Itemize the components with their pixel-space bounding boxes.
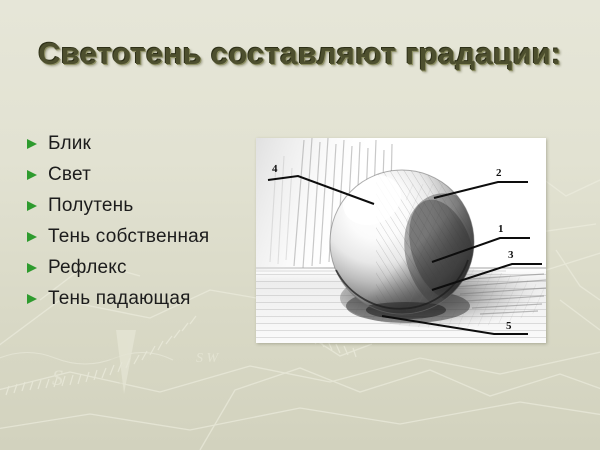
list-item[interactable]: Полутень <box>26 190 256 221</box>
triangle-right-icon <box>26 200 42 212</box>
list-item[interactable]: Блик <box>26 128 256 159</box>
list-item[interactable]: Тень падающая <box>26 283 256 314</box>
callout-number-2: 2 <box>496 167 502 179</box>
sphere-illustration[interactable]: 4 2 1 3 5 <box>256 138 546 343</box>
svg-text:S W: S W <box>196 351 220 366</box>
list-item-label: Полутень <box>42 190 133 221</box>
triangle-right-icon <box>26 231 42 243</box>
list-item-label: Тень собственная <box>42 221 209 252</box>
list-item-label: Тень падающая <box>42 283 191 314</box>
callout-number-3: 3 <box>508 249 514 261</box>
triangle-right-icon <box>26 138 42 150</box>
slide: S S W Светотень составляют градации: Бли… <box>0 0 600 450</box>
svg-text:S: S <box>52 365 63 390</box>
triangle-right-icon <box>26 262 42 274</box>
callout-number-1: 1 <box>498 223 504 235</box>
page-title: Светотень составляют градации: <box>0 36 600 72</box>
list-item[interactable]: Свет <box>26 159 256 190</box>
list-item-label: Рефлекс <box>42 252 127 283</box>
callout-number-4: 4 <box>272 163 278 175</box>
list-item[interactable]: Рефлекс <box>26 252 256 283</box>
list-item-label: Блик <box>42 128 91 159</box>
gradation-list: Блик Свет Полутень Тень собственная Рефл <box>26 128 256 314</box>
triangle-right-icon <box>26 169 42 181</box>
list-item-label: Свет <box>42 159 91 190</box>
callout-number-5: 5 <box>506 320 512 332</box>
list-item[interactable]: Тень собственная <box>26 221 256 252</box>
triangle-right-icon <box>26 293 42 305</box>
